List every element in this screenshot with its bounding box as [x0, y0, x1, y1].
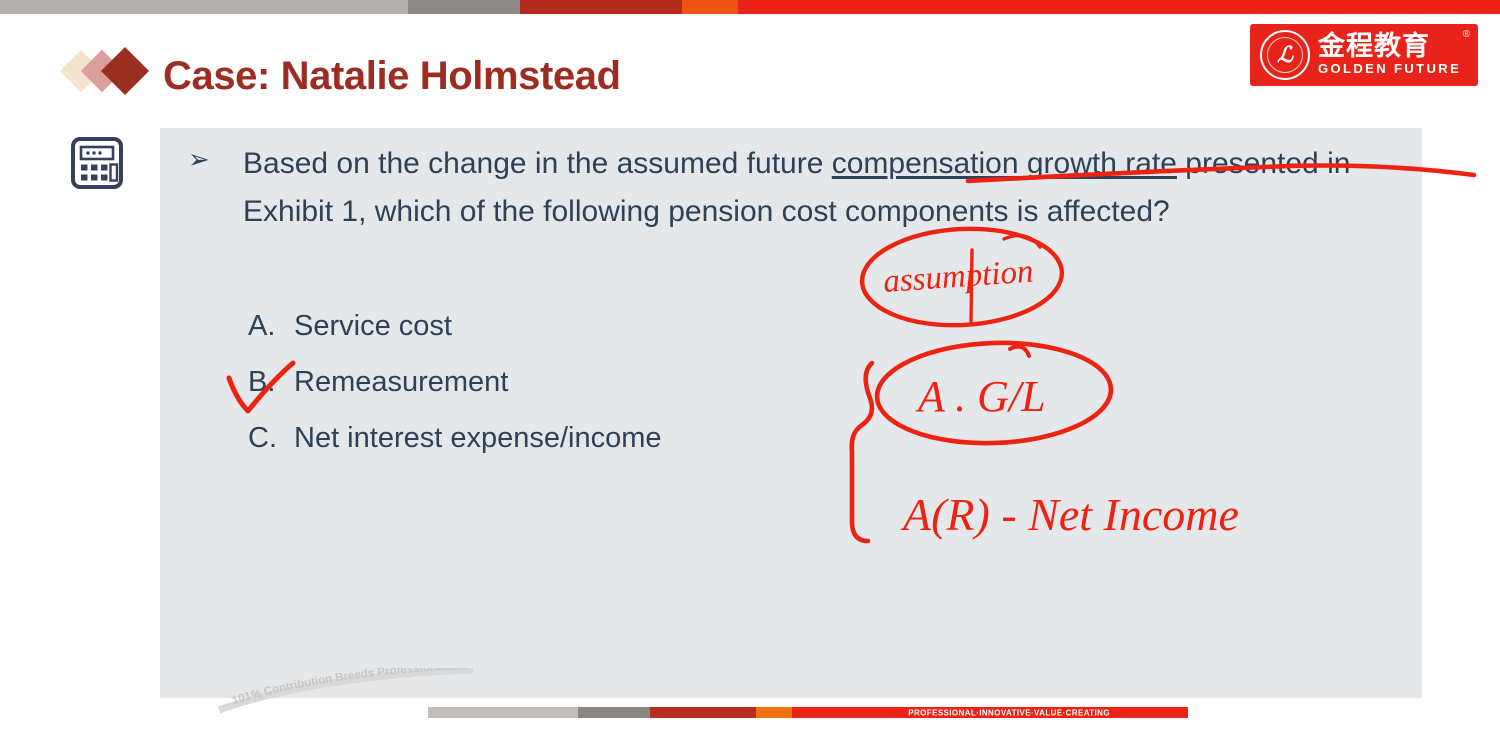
option-b-letter: B. — [248, 354, 294, 410]
diamond-logo-icon — [60, 40, 168, 102]
brand-name-cn-text: 金程教育 — [1318, 31, 1430, 61]
question-text: Based on the change in the assumed futur… — [243, 140, 1418, 236]
bottom-bar-segment-light-gray — [428, 707, 578, 718]
slide-header: Case: Natalie Holmstead ℒ 金程教育 ® GOLDEN … — [0, 14, 1500, 114]
top-bar-segment-light-gray — [0, 0, 408, 14]
option-b[interactable]: B. Remeasurement — [248, 354, 662, 410]
brand-text-block: 金程教育 ® GOLDEN FUTURE — [1318, 32, 1461, 77]
bottom-bar-segment-bright-red: PROFESSIONAL·INNOVATIVE·VALUE·CREATING — [792, 707, 1188, 718]
brand-name-en: GOLDEN FUTURE — [1318, 61, 1461, 78]
question-line1-pre: Based on the change in the assumed futur… — [243, 147, 832, 180]
brand-name-cn: 金程教育 ® — [1318, 32, 1461, 60]
footer-tagline: PROFESSIONAL·INNOVATIVE·VALUE·CREATING — [908, 708, 1110, 717]
option-a-label: Service cost — [294, 298, 452, 354]
option-a-letter: A. — [248, 298, 294, 354]
brand-logo: ℒ 金程教育 ® GOLDEN FUTURE — [1250, 24, 1478, 86]
top-bar-segment-dark-gray — [408, 0, 520, 14]
option-c[interactable]: C. Net interest expense/income — [248, 410, 662, 466]
question-block: ➢ Based on the change in the assumed fut… — [188, 140, 1418, 236]
option-c-label: Net interest expense/income — [294, 410, 662, 466]
brand-seal-icon: ℒ — [1260, 30, 1310, 80]
option-c-letter: C. — [248, 410, 294, 466]
option-b-label: Remeasurement — [294, 354, 508, 410]
calculator-icon — [70, 136, 124, 190]
footer-swoosh-text: 101% Contribution Breeds Professionalism… — [215, 668, 470, 707]
bottom-bar-segment-dark-red — [650, 707, 756, 718]
bottom-bar-segment-dark-gray — [578, 707, 650, 718]
bottom-accent-bar: PROFESSIONAL·INNOVATIVE·VALUE·CREATING — [428, 707, 1188, 718]
footer-swoosh-text-path: 101% Contribution Breeds Professionalism… — [215, 668, 470, 707]
page-title: Case: Natalie Holmstead — [163, 54, 621, 99]
top-accent-bar — [0, 0, 1500, 14]
bullet-arrow-icon: ➢ — [188, 146, 210, 172]
registered-mark: ® — [1463, 30, 1471, 41]
top-bar-segment-orange — [682, 0, 738, 14]
top-bar-segment-dark-red — [520, 0, 682, 14]
answer-options-list: A. Service cost B. Remeasurement C. Net … — [248, 298, 662, 466]
question-underlined-phrase: compensation growth rate — [832, 147, 1177, 180]
option-a[interactable]: A. Service cost — [248, 298, 662, 354]
top-bar-segment-bright-red — [738, 0, 1500, 14]
bottom-bar-segment-orange — [756, 707, 792, 718]
seal-monogram: ℒ — [1277, 44, 1293, 66]
question-line3: is affected? — [1017, 195, 1170, 228]
